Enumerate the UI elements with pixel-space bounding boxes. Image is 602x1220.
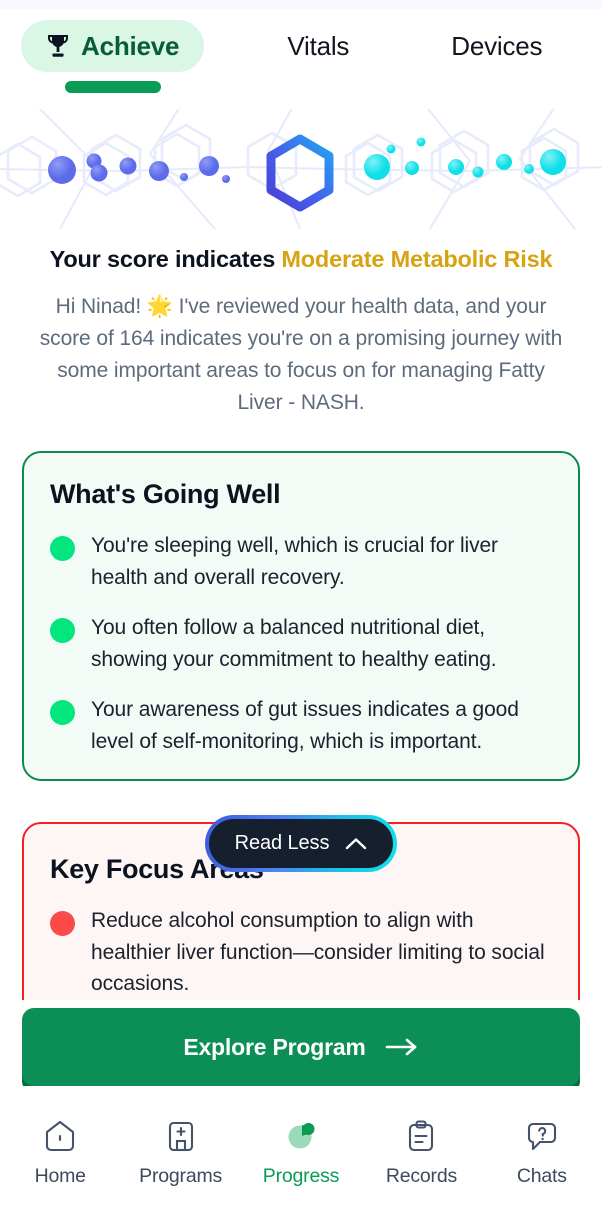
list-item: Your awareness of gut issues indicates a… bbox=[50, 694, 552, 757]
nav-item-records[interactable]: Records bbox=[361, 1116, 481, 1188]
headline-prefix: Your score indicates bbox=[50, 246, 282, 272]
bottom-navigation: Home Programs Progress Rec bbox=[0, 1098, 602, 1220]
going-well-title: What's Going Well bbox=[50, 479, 552, 510]
programs-icon bbox=[161, 1116, 201, 1156]
tab-devices-label: Devices bbox=[451, 33, 542, 59]
chat-question-icon bbox=[522, 1116, 562, 1156]
read-toggle-wrapper: Read Less bbox=[0, 815, 602, 872]
top-tab-bar: Achieve Vitals Devices bbox=[0, 9, 602, 109]
card-whats-going-well: What's Going Well You're sleeping well, … bbox=[22, 451, 580, 781]
score-headline: Your score indicates Moderate Metabolic … bbox=[0, 245, 602, 274]
status-strip bbox=[0, 0, 602, 9]
home-icon bbox=[40, 1116, 80, 1156]
nav-label-chats: Chats bbox=[517, 1165, 567, 1188]
explore-program-button[interactable]: Explore Program bbox=[22, 1008, 580, 1086]
read-less-label: Read Less bbox=[235, 832, 330, 855]
list-item: Reduce alcohol consumption to align with… bbox=[50, 905, 552, 1000]
app-screen: Achieve Vitals Devices bbox=[0, 0, 602, 1220]
nav-label-records: Records bbox=[386, 1165, 457, 1188]
risk-label: Moderate Metabolic Risk bbox=[281, 246, 552, 272]
nav-item-chats[interactable]: Chats bbox=[482, 1116, 602, 1188]
nav-label-home: Home bbox=[35, 1165, 86, 1188]
clipboard-icon bbox=[401, 1116, 441, 1156]
going-well-list: You're sleeping well, which is crucial f… bbox=[50, 530, 552, 757]
key-focus-list: Reduce alcohol consumption to align with… bbox=[50, 905, 552, 1000]
tab-achieve-label: Achieve bbox=[81, 33, 179, 59]
summary-intro-text: Hi Ninad! 🌟 I've reviewed your health da… bbox=[0, 291, 602, 419]
bullet-dot-icon bbox=[50, 618, 75, 643]
tab-devices[interactable]: Devices bbox=[441, 20, 552, 72]
list-item-text: Reduce alcohol consumption to align with… bbox=[91, 905, 552, 1000]
chevron-up-icon bbox=[345, 837, 367, 850]
tab-vitals-label: Vitals bbox=[287, 33, 349, 59]
arrow-right-icon bbox=[385, 1037, 419, 1057]
nav-label-progress: Progress bbox=[263, 1165, 339, 1188]
nav-label-programs: Programs bbox=[139, 1165, 222, 1188]
hexagon-network-svg bbox=[0, 109, 602, 229]
nav-item-progress[interactable]: Progress bbox=[241, 1116, 361, 1188]
tab-vitals[interactable]: Vitals bbox=[277, 20, 359, 72]
list-item-text: Your awareness of gut issues indicates a… bbox=[91, 694, 552, 757]
list-item-text: You're sleeping well, which is crucial f… bbox=[91, 530, 552, 593]
bullet-dot-icon bbox=[50, 911, 75, 936]
trophy-icon bbox=[46, 33, 70, 59]
tab-active-indicator bbox=[65, 81, 161, 93]
hero-network-graphic bbox=[0, 109, 602, 229]
list-item: You often follow a balanced nutritional … bbox=[50, 612, 552, 675]
progress-pie-icon bbox=[281, 1116, 321, 1156]
explore-program-label: Explore Program bbox=[183, 1034, 365, 1061]
cta-container: Explore Program bbox=[0, 1008, 602, 1100]
read-less-button[interactable]: Read Less bbox=[205, 815, 398, 872]
cta-spacer bbox=[22, 1086, 580, 1100]
tab-achieve[interactable]: Achieve bbox=[21, 20, 204, 93]
bullet-dot-icon bbox=[50, 536, 75, 561]
list-item-text: You often follow a balanced nutritional … bbox=[91, 612, 552, 675]
nav-item-home[interactable]: Home bbox=[0, 1116, 120, 1188]
bullet-dot-icon bbox=[50, 700, 75, 725]
list-item: You're sleeping well, which is crucial f… bbox=[50, 530, 552, 593]
nav-item-programs[interactable]: Programs bbox=[120, 1116, 240, 1188]
